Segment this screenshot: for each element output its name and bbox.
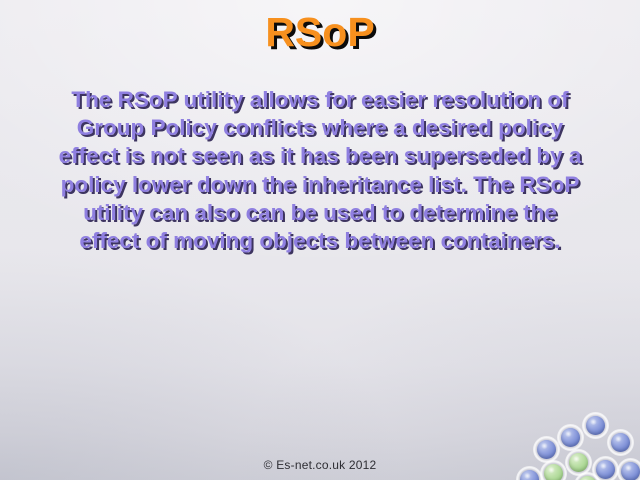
bubble-highlight (615, 436, 622, 442)
bubble-ring (582, 412, 609, 439)
body-line-6: effect of moving objects between contain… (14, 227, 626, 255)
bubble-highlight (565, 431, 572, 437)
bubble-green-icon (578, 476, 597, 480)
footer-copyright: © Es-net.co.uk 2012 (0, 458, 640, 472)
body-line-5: utility can also can be used to determin… (14, 199, 626, 227)
body-line-4: policy lower down the inheritance list. … (14, 171, 626, 199)
bubble-fill (586, 416, 605, 435)
body-line-3: effect is not seen as it has been supers… (14, 142, 626, 170)
bubble-highlight (590, 419, 597, 425)
bubble-blue-icon (537, 440, 556, 459)
bubble-ring (607, 429, 634, 456)
bubble-ring (557, 424, 584, 451)
bubble-fill (578, 476, 597, 480)
bubble-fill (537, 440, 556, 459)
bubble-highlight (541, 443, 548, 449)
slide-title: RSoP (0, 8, 640, 56)
slide-body-text: The RSoP utility allows for easier resol… (14, 86, 626, 255)
bubble-fill (611, 433, 630, 452)
bubble-blue-icon (611, 433, 630, 452)
bubble-blue-icon (586, 416, 605, 435)
bubble-ring (574, 472, 601, 480)
bubble-fill (561, 428, 580, 447)
bubble-highlight (524, 473, 531, 479)
slide-canvas: RSoP The RSoP utility allows for easier … (0, 0, 640, 480)
bubble-blue-icon (561, 428, 580, 447)
body-line-2: Group Policy conflicts where a desired p… (14, 114, 626, 142)
body-line-1: The RSoP utility allows for easier resol… (14, 86, 626, 114)
